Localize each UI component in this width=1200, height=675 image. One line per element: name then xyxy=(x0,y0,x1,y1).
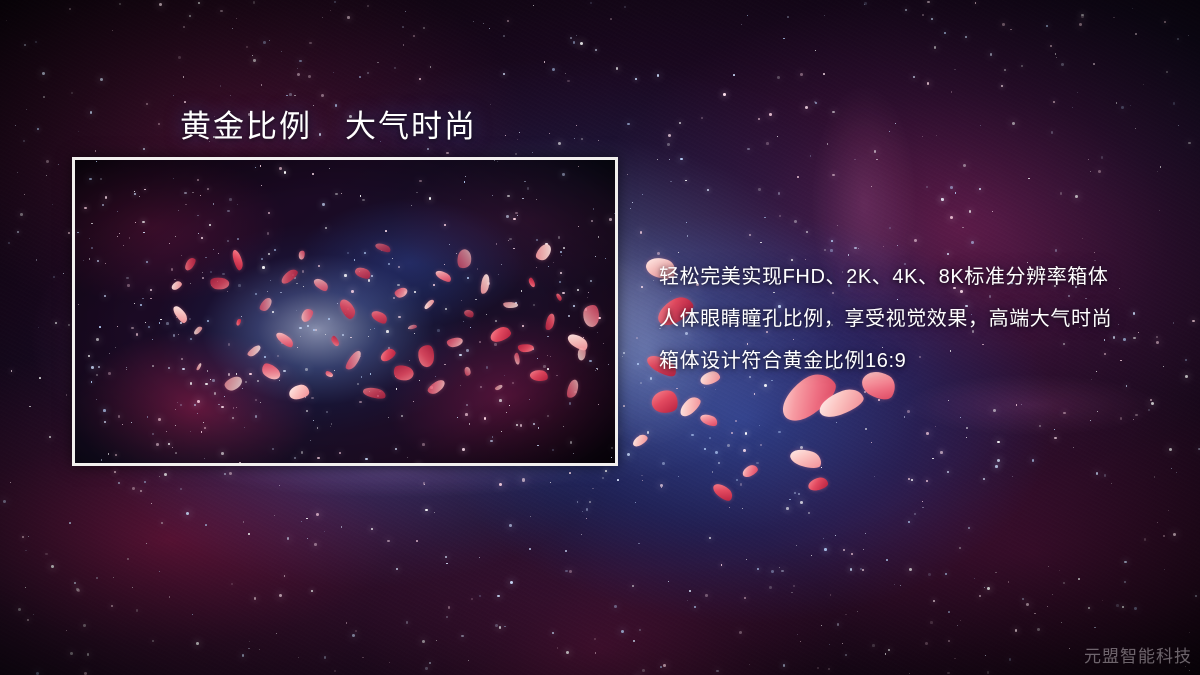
nebula-photo-frame xyxy=(72,157,618,466)
body-line-2: 人体眼睛瞳孔比例，享受视觉效果，高端大气时尚 xyxy=(659,298,1179,340)
body-line-3: 箱体设计符合黄金比例16:9 xyxy=(659,340,1179,382)
watermark: 元盟智能科技 xyxy=(1084,642,1192,667)
page-title: 黄金比例 大气时尚 xyxy=(180,101,477,146)
frame-photo-content xyxy=(75,160,615,463)
presentation-slide: 黄金比例 大气时尚 轻松完美实现FHD、2K、4K、8K标准分辨率箱体 人体眼睛… xyxy=(0,0,1200,675)
body-line-1: 轻松完美实现FHD、2K、4K、8K标准分辨率箱体 xyxy=(659,256,1179,298)
body-text-block: 轻松完美实现FHD、2K、4K、8K标准分辨率箱体 人体眼睛瞳孔比例，享受视觉效… xyxy=(659,256,1179,382)
